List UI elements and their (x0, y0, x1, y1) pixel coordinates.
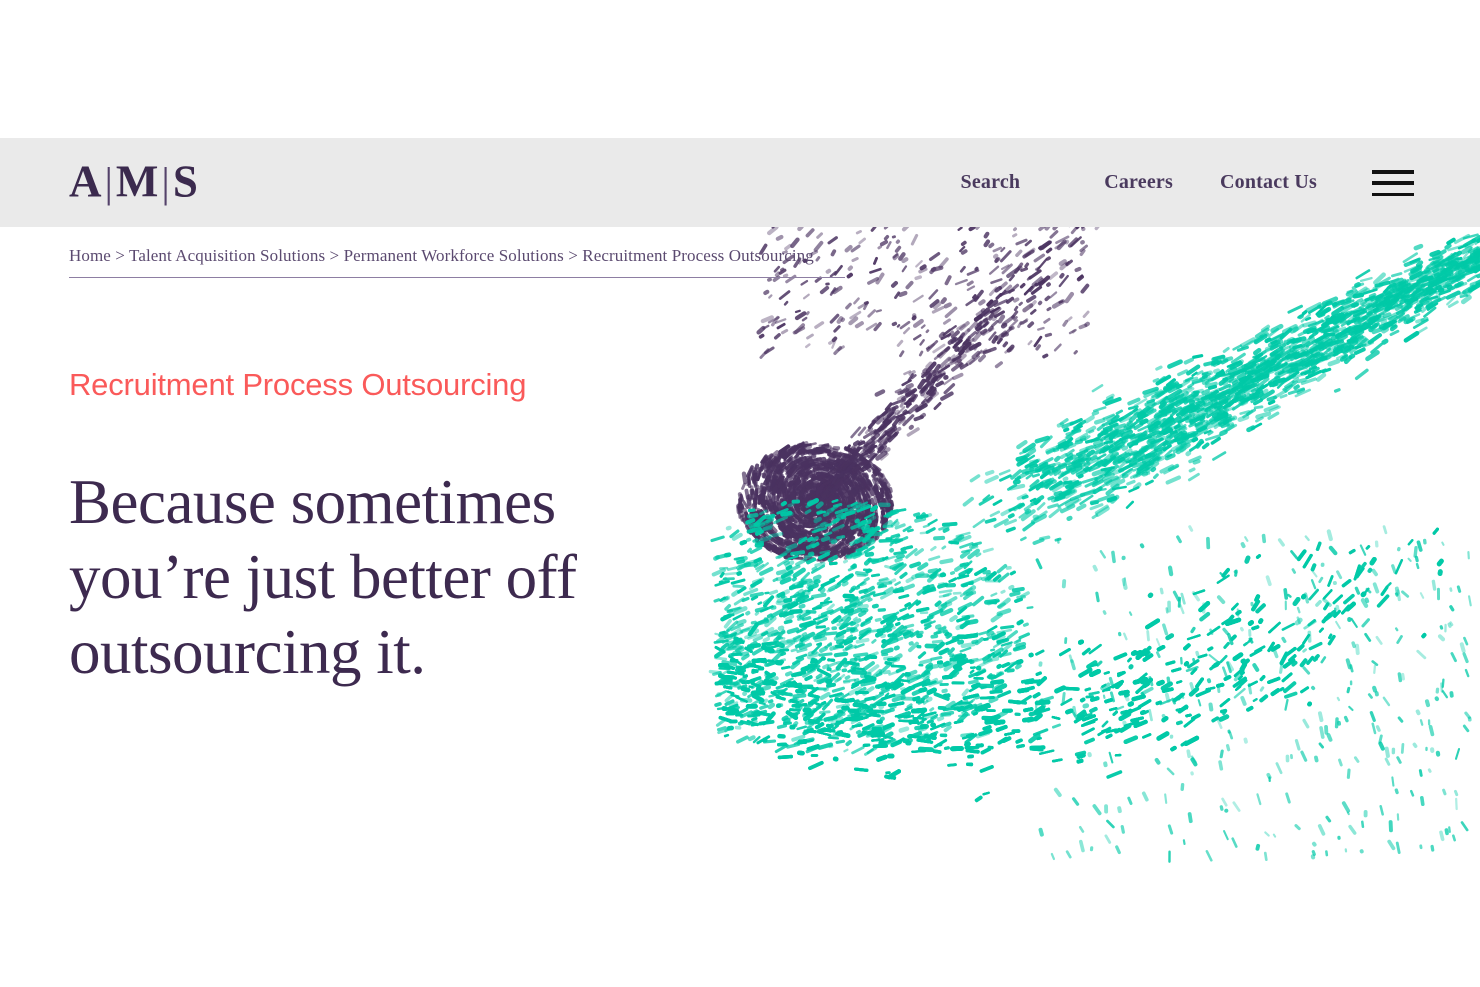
primary-navigation: Search Careers Contact Us (961, 138, 1480, 227)
nav-item-careers[interactable]: Careers (1104, 171, 1173, 194)
hamburger-bar-1 (1372, 170, 1414, 174)
logo-divider-1: | (103, 160, 116, 206)
hamburger-menu-icon[interactable] (1372, 170, 1414, 196)
breadcrumb-text[interactable]: Home > Talent Acquisition Solutions > Pe… (69, 246, 849, 266)
ams-logo[interactable]: A|M|S (69, 159, 199, 204)
logo-letter-a: A (69, 156, 103, 206)
page-eyebrow: Recruitment Process Outsourcing (69, 367, 526, 403)
logo-letter-s: S (173, 156, 199, 206)
hamburger-bar-3 (1372, 193, 1414, 196)
page-root: A|M|S Search Careers Contact Us (0, 0, 1480, 987)
logo-divider-2: | (159, 160, 172, 206)
page-title: Because sometimes you’re just better off… (69, 465, 709, 690)
breadcrumb-divider (69, 277, 845, 278)
top-white-strip (0, 0, 1480, 138)
particle-swirl-graphic (700, 227, 1480, 917)
site-header: A|M|S Search Careers Contact Us (0, 138, 1480, 227)
nav-item-search[interactable]: Search (961, 171, 1021, 194)
hamburger-bar-2 (1372, 181, 1414, 185)
hero-section: Home > Talent Acquisition Solutions > Pe… (0, 227, 1480, 987)
logo-letter-m: M (116, 156, 159, 206)
breadcrumb: Home > Talent Acquisition Solutions > Pe… (69, 246, 849, 278)
nav-item-contact-us[interactable]: Contact Us (1220, 171, 1317, 194)
